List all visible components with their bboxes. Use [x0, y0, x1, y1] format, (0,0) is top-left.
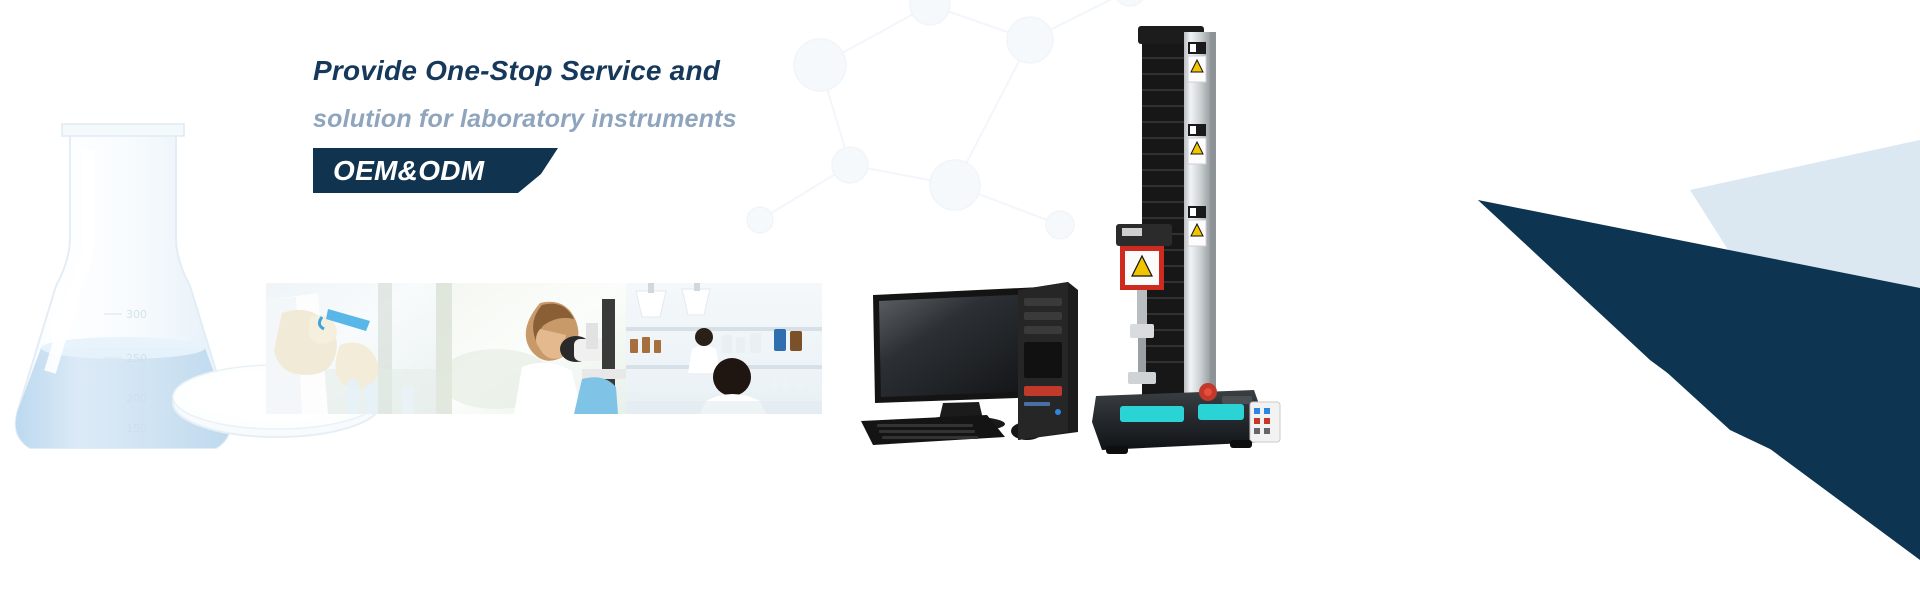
decorative-arrow-graphic [1400, 0, 1920, 597]
headline-block: Provide One-Stop Service and solution fo… [313, 55, 1073, 193]
headline-primary: Provide One-Stop Service and [313, 55, 1073, 87]
badge-label: OEM&ODM [333, 154, 484, 187]
warning-label-group [1188, 42, 1206, 246]
lab-bench-photo [626, 283, 822, 414]
dark-navy-arrow [1478, 200, 1920, 520]
oem-odm-badge: OEM&ODM [313, 148, 558, 193]
svg-text:200: 200 [126, 392, 147, 405]
dark-navy-arrow-tail [1478, 200, 1920, 560]
microscope-photo [436, 283, 626, 414]
promotional-banner: Provide One-Stop Service and solution fo… [0, 0, 1920, 597]
svg-text:300: 300 [126, 308, 147, 321]
computer-tower [1012, 282, 1082, 442]
pipetting-photo [266, 283, 436, 414]
universal-tensile-testing-machine [1090, 18, 1300, 458]
light-blue-triangle [1690, 140, 1920, 470]
svg-text:250: 250 [126, 352, 147, 365]
headline-secondary: solution for laboratory instruments [313, 105, 1073, 134]
photo-strip [266, 283, 822, 414]
svg-text:150: 150 [126, 422, 147, 435]
